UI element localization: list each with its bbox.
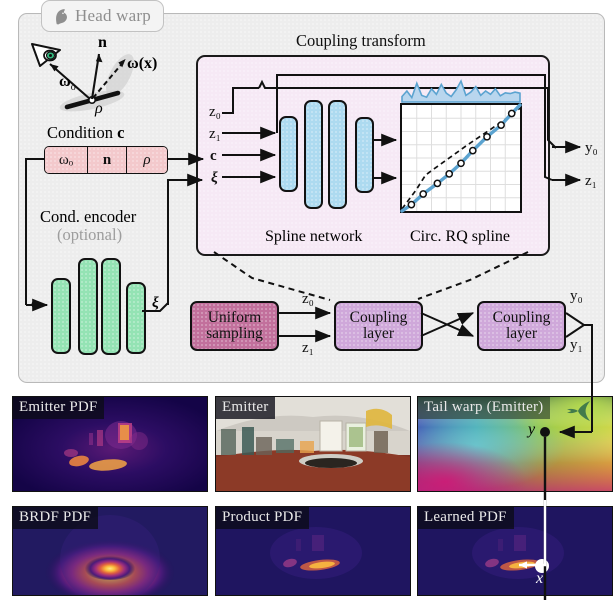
tile-product-pdf: Product PDF: [215, 506, 411, 596]
sample-output-z0: z₀: [302, 291, 314, 308]
tile-learned-pdf: Learned PDF: [417, 506, 613, 596]
ct-input-xi: ξ: [211, 170, 218, 187]
coupling-layer-1-label: Coupling layer: [350, 310, 408, 343]
encoder-title: Cond. encoder: [40, 207, 136, 227]
coupling1-line-2: layer: [363, 325, 394, 342]
uniform-sampling-box: Uniform sampling: [190, 301, 279, 351]
tile-caption-emitter-pdf: Emitter PDF: [13, 397, 104, 419]
condition-title-var: c: [117, 123, 124, 142]
tile-tail-warp: Tail warp (Emitter): [417, 396, 613, 492]
tile-emitter-photo: Emitter: [215, 396, 411, 492]
coupling2-line-2: layer: [506, 325, 537, 342]
encoder-bar-1: [51, 278, 71, 354]
tile-brdf-pdf: BRDF PDF: [12, 506, 208, 596]
coupling-layer-2-box: Coupling layer: [477, 301, 566, 351]
omega-out-glyph: ω: [59, 73, 71, 90]
tile-emitter-pdf: Emitter PDF: [12, 396, 208, 492]
ct-input-z1: z₁: [209, 126, 221, 143]
horse-head-icon: [51, 7, 70, 26]
encoder-bar-2: [78, 258, 98, 355]
omega-out-subscript: o: [71, 82, 76, 93]
uniform-line-2: sampling: [206, 325, 263, 342]
condition-title-text: Condition: [47, 123, 117, 142]
y-point-label: y: [528, 421, 535, 439]
tile-caption-product-pdf: Product PDF: [216, 507, 309, 529]
encoder-input-label: c: [31, 296, 38, 313]
uniform-line-1: Uniform: [208, 309, 261, 326]
tile-caption-emitter: Emitter: [216, 397, 275, 419]
head-warp-label: Head warp: [75, 6, 151, 26]
encoder-bar-4: [126, 282, 146, 354]
head-warp-badge: Head warp: [41, 0, 164, 32]
ct-input-c: c: [210, 148, 217, 165]
spline-network-label: Spline network: [265, 228, 362, 246]
figure-root: Head warp n ωo ω(x) ρ Condition c ωₒ: [0, 0, 613, 600]
encoder-subtitle: (optional): [57, 225, 122, 245]
tile-caption-learned-pdf: Learned PDF: [418, 507, 514, 529]
final-output-y1: y₁: [570, 337, 583, 354]
condition-cell-rho: ρ: [127, 147, 167, 173]
encoder-output-label: ξ: [152, 295, 159, 312]
encoder-bar-3: [101, 258, 121, 355]
ct-output-y0: y₀: [585, 140, 598, 157]
spline-net-bar-2: [304, 100, 323, 209]
condition-vector: ωₒ n ρ: [44, 146, 168, 174]
omega-out-label: ωo: [59, 73, 76, 93]
ct-output-z1: z₁: [585, 173, 597, 190]
coupling2-line-1: Coupling: [493, 309, 551, 326]
uniform-sampling-label: Uniform sampling: [206, 310, 263, 343]
tile-caption-brdf-pdf: BRDF PDF: [13, 507, 98, 529]
coupling-layer-1-box: Coupling layer: [334, 301, 423, 351]
ct-input-z0: z₀: [209, 104, 221, 121]
tile-caption-tail-warp: Tail warp (Emitter): [418, 397, 550, 419]
rq-spline-plot: [400, 103, 522, 213]
normal-label: n: [98, 34, 107, 52]
condition-title: Condition c: [47, 123, 124, 143]
fish-tail-icon: [565, 399, 591, 423]
spline-net-bar-3: [328, 100, 347, 209]
condition-cell-normal: n: [88, 147, 127, 173]
coupling-layer-2-label: Coupling layer: [493, 310, 551, 343]
condition-cell-omega: ωₒ: [45, 147, 88, 173]
omega-x-label: ω(x): [127, 55, 157, 73]
final-output-y0: y₀: [570, 288, 583, 305]
spline-plot-label: Circ. RQ spline: [410, 228, 510, 246]
spline-net-bar-4: [355, 117, 374, 193]
sample-output-z1: z₁: [302, 340, 314, 357]
coupling-transform-title: Coupling transform: [296, 31, 426, 51]
x-point-label: x: [536, 570, 543, 588]
spline-net-bar-1: [279, 116, 298, 192]
coupling1-line-1: Coupling: [350, 309, 408, 326]
rho-label: ρ: [95, 100, 103, 118]
